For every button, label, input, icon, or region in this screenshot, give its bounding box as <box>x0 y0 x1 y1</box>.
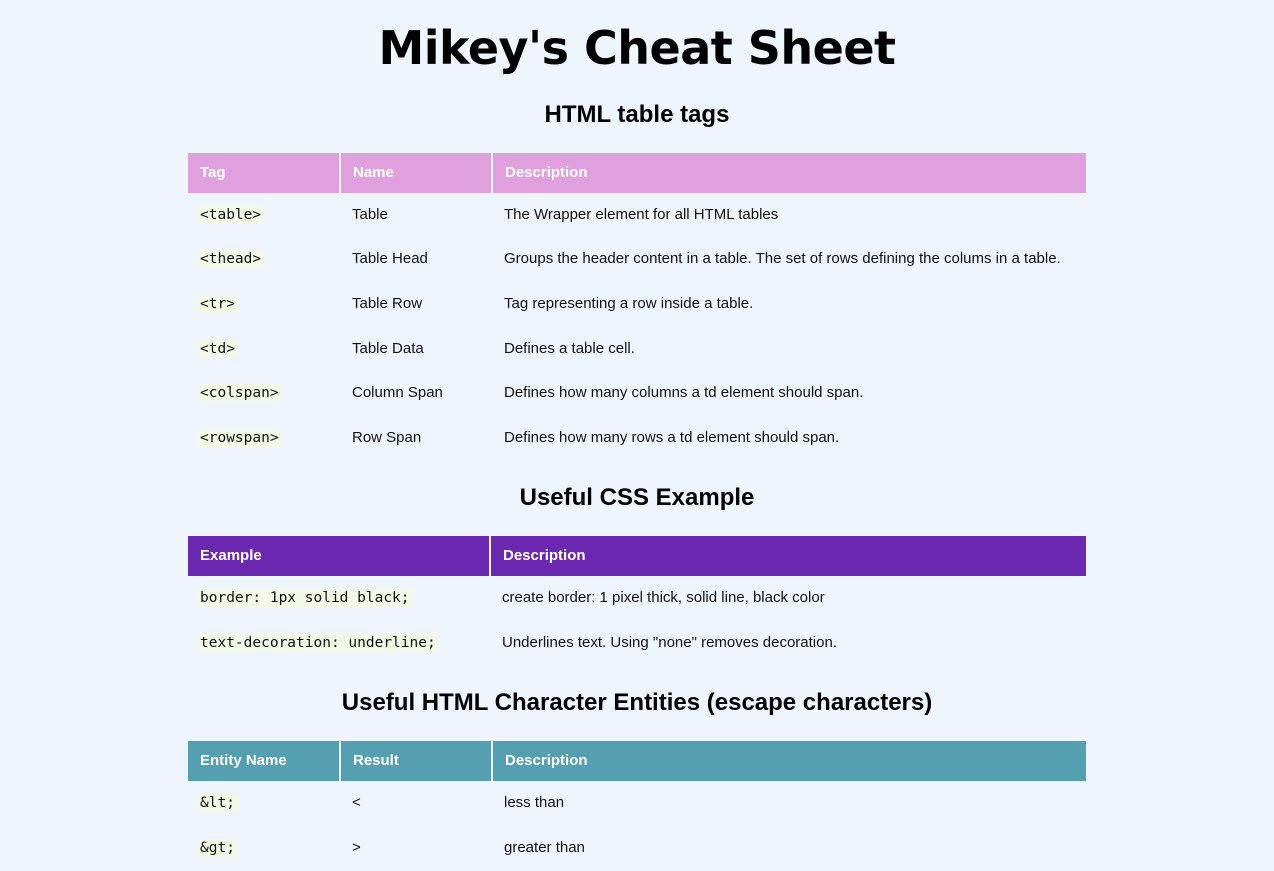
cell-description: Groups the header content in a table. Th… <box>492 237 1086 282</box>
table-row: &gt; > greater than <box>188 826 1086 871</box>
code-snippet: <colspan> <box>198 384 281 402</box>
table-row: <td> Table Data Defines a table cell. <box>188 327 1086 372</box>
spacer <box>0 717 1274 741</box>
page-title: Mikey's Cheat Sheet <box>0 0 1274 75</box>
cell-tag: <tr> <box>188 282 340 327</box>
cell-description: Underlines text. Using "none" removes de… <box>490 621 1086 666</box>
cell-name: Row Span <box>340 416 492 461</box>
table-row: <thead> Table Head Groups the header con… <box>188 237 1086 282</box>
cell-result: > <box>340 826 492 871</box>
cell-description: The Wrapper element for all HTML tables <box>492 193 1086 238</box>
table-row: border: 1px solid black; create border: … <box>188 576 1086 621</box>
cell-description: less than <box>492 781 1086 826</box>
cell-name: Column Span <box>340 371 492 416</box>
table-row: <tr> Table Row Tag representing a row in… <box>188 282 1086 327</box>
cell-description: Defines how many columns a td element sh… <box>492 371 1086 416</box>
table-header-row: Tag Name Description <box>188 153 1086 193</box>
code-snippet: &lt; <box>198 794 237 812</box>
cell-name: Table Data <box>340 327 492 372</box>
section-heading-html-character-entities: Useful HTML Character Entities (escape c… <box>0 689 1274 717</box>
table-row: <rowspan> Row Span Defines how many rows… <box>188 416 1086 461</box>
cell-tag: <rowspan> <box>188 416 340 461</box>
code-snippet: <tr> <box>198 295 237 313</box>
cell-tag: <colspan> <box>188 371 340 416</box>
table-row: <colspan> Column Span Defines how many c… <box>188 371 1086 416</box>
table-header: Tag Name Description <box>188 153 1086 193</box>
section-heading-html-table-tags: HTML table tags <box>0 101 1274 129</box>
code-snippet: <thead> <box>198 250 263 268</box>
spacer <box>0 460 1274 484</box>
column-header-example: Example <box>188 536 490 576</box>
code-snippet: <table> <box>198 206 263 224</box>
column-header-entity-name: Entity Name <box>188 741 340 781</box>
cell-description: greater than <box>492 826 1086 871</box>
cell-entity-name: &gt; <box>188 826 340 871</box>
cell-tag: <td> <box>188 327 340 372</box>
code-snippet: <td> <box>198 340 237 358</box>
cell-name: Table Row <box>340 282 492 327</box>
column-header-description: Description <box>490 536 1086 576</box>
table-row: text-decoration: underline; Underlines t… <box>188 621 1086 666</box>
cell-description: create border: 1 pixel thick, solid line… <box>490 576 1086 621</box>
spacer <box>0 665 1274 689</box>
column-header-tag: Tag <box>188 153 340 193</box>
html-table-tags-table: Tag Name Description <table> Table The W… <box>188 153 1086 460</box>
cell-description: Defines a table cell. <box>492 327 1086 372</box>
cell-tag: <thead> <box>188 237 340 282</box>
column-header-description: Description <box>492 741 1086 781</box>
cell-example: text-decoration: underline; <box>188 621 490 666</box>
table-header: Example Description <box>188 536 1086 576</box>
cell-name: Table Head <box>340 237 492 282</box>
section-heading-useful-css-example: Useful CSS Example <box>0 484 1274 512</box>
spacer <box>0 75 1274 101</box>
spacer <box>0 512 1274 536</box>
column-header-result: Result <box>340 741 492 781</box>
table-row: &lt; < less than <box>188 781 1086 826</box>
column-header-name: Name <box>340 153 492 193</box>
cell-result: < <box>340 781 492 826</box>
cell-example: border: 1px solid black; <box>188 576 490 621</box>
table-header-row: Example Description <box>188 536 1086 576</box>
cell-description: Tag representing a row inside a table. <box>492 282 1086 327</box>
useful-css-example-table: Example Description border: 1px solid bl… <box>188 536 1086 665</box>
column-header-description: Description <box>492 153 1086 193</box>
spacer <box>0 129 1274 153</box>
table-body: border: 1px solid black; create border: … <box>188 576 1086 665</box>
table-header: Entity Name Result Description <box>188 741 1086 781</box>
cell-tag: <table> <box>188 193 340 238</box>
table-row: <table> Table The Wrapper element for al… <box>188 193 1086 238</box>
code-snippet: border: 1px solid black; <box>198 589 412 607</box>
cell-name: Table <box>340 193 492 238</box>
table-body: <table> Table The Wrapper element for al… <box>188 193 1086 460</box>
code-snippet: text-decoration: underline; <box>198 634 438 652</box>
html-character-entities-table: Entity Name Result Description &lt; < le… <box>188 741 1086 870</box>
table-header-row: Entity Name Result Description <box>188 741 1086 781</box>
table-body: &lt; < less than &gt; > greater than <box>188 781 1086 870</box>
code-snippet: <rowspan> <box>198 429 281 447</box>
cell-entity-name: &lt; <box>188 781 340 826</box>
cell-description: Defines how many rows a td element shoul… <box>492 416 1086 461</box>
